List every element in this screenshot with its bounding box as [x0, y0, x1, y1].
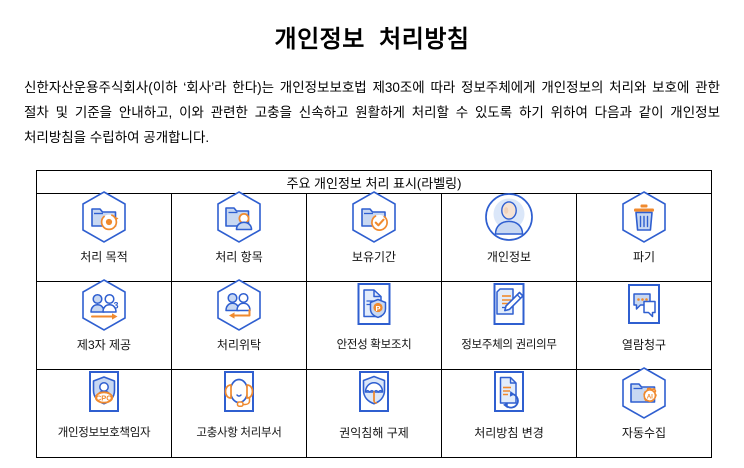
label-cell-safety-measures[interactable]: P 안전성 확보조치: [307, 282, 442, 370]
label-cell-text: 처리방침 변경: [442, 426, 576, 440]
label-cell-text: 열람청구: [577, 338, 711, 352]
label-cell-remedy[interactable]: 권익침해 구제: [307, 370, 442, 458]
label-cell-text: 안전성 확보조치: [307, 338, 441, 352]
label-cell-text: 제3자 제공: [37, 338, 171, 352]
svg-text:3: 3: [114, 301, 119, 311]
table-row: 처리 목적 처리 항목: [37, 194, 712, 282]
label-cell-complaint-dept[interactable]: 고충사항 처리부서: [172, 370, 307, 458]
label-cell-text: 정보주체의 권리의무: [442, 338, 576, 352]
headset-support-square-icon: [172, 370, 306, 428]
label-cell-text: 처리 항목: [172, 250, 306, 264]
document-pencil-square-icon: [442, 282, 576, 340]
label-cell-auto-collection[interactable]: AI 자동수집: [577, 370, 712, 458]
label-cell-text: 개인정보: [442, 250, 576, 264]
label-cell-retention[interactable]: 보유기간: [307, 194, 442, 282]
shield-umbrella-square-icon: [307, 370, 441, 428]
label-cell-text: 개인정보보호책임자: [37, 426, 171, 440]
document-shield-lock-square-icon: P: [307, 282, 441, 340]
shield-person-cpo-square-icon: CPO: [37, 370, 171, 428]
intro-paragraph: 신한자산운용주식회사(이하 ‘회사’라 한다)는 개인정보보호법 제30조에 따…: [0, 55, 744, 150]
label-cell-purpose[interactable]: 처리 목적: [37, 194, 172, 282]
label-cell-rights-duties[interactable]: 정보주체의 권리의무: [442, 282, 577, 370]
label-cell-consignment[interactable]: 처리위탁: [172, 282, 307, 370]
label-cell-text: 파기: [577, 250, 711, 264]
trash-bin-hex-icon: [577, 194, 711, 252]
label-cell-text: 고충사항 처리부서: [172, 426, 306, 440]
two-persons-arrow-third-party-hex-icon: 3: [37, 282, 171, 340]
two-persons-arrow-return-hex-icon: [172, 282, 306, 340]
folder-ai-gear-hex-icon: AI: [577, 370, 711, 428]
label-cell-access-request[interactable]: 열람청구: [577, 282, 712, 370]
label-cell-text: 자동수집: [577, 426, 711, 440]
label-cell-policy-change[interactable]: 처리방침 변경: [442, 370, 577, 458]
label-cell-text: 처리위탁: [172, 338, 306, 352]
person-circle-icon: [442, 194, 576, 252]
table-row: 3 제3자 제공: [37, 282, 712, 370]
speech-bubbles-square-icon: [577, 282, 711, 340]
folder-clock-check-hex-icon: [307, 194, 441, 252]
label-cell-text: 처리 목적: [37, 250, 171, 264]
label-cell-destruction[interactable]: 파기: [577, 194, 712, 282]
page-title: 개인정보 처리방침: [0, 0, 744, 55]
label-cell-personal-info[interactable]: 개인정보: [442, 194, 577, 282]
label-table-container: 주요 개인정보 처리 표시(라벨링): [36, 170, 712, 458]
svg-text:P: P: [375, 304, 380, 313]
folder-person-hex-icon: [172, 194, 306, 252]
table-row: CPO 개인정보보호책임자: [37, 370, 712, 458]
label-cell-cpo[interactable]: CPO 개인정보보호책임자: [37, 370, 172, 458]
privacy-label-table: 주요 개인정보 처리 표시(라벨링): [36, 170, 712, 458]
page-root: 개인정보 처리방침 신한자산운용주식회사(이하 ‘회사’라 한다)는 개인정보보…: [0, 0, 744, 468]
label-cell-text: 보유기간: [307, 250, 441, 264]
svg-text:AI: AI: [647, 393, 653, 400]
document-sync-square-icon: [442, 370, 576, 428]
label-cell-items[interactable]: 처리 항목: [172, 194, 307, 282]
svg-text:CPO: CPO: [96, 394, 112, 403]
folder-refresh-hex-icon: [37, 194, 171, 252]
label-cell-text: 권익침해 구제: [307, 426, 441, 440]
label-cell-third-party[interactable]: 3 제3자 제공: [37, 282, 172, 370]
